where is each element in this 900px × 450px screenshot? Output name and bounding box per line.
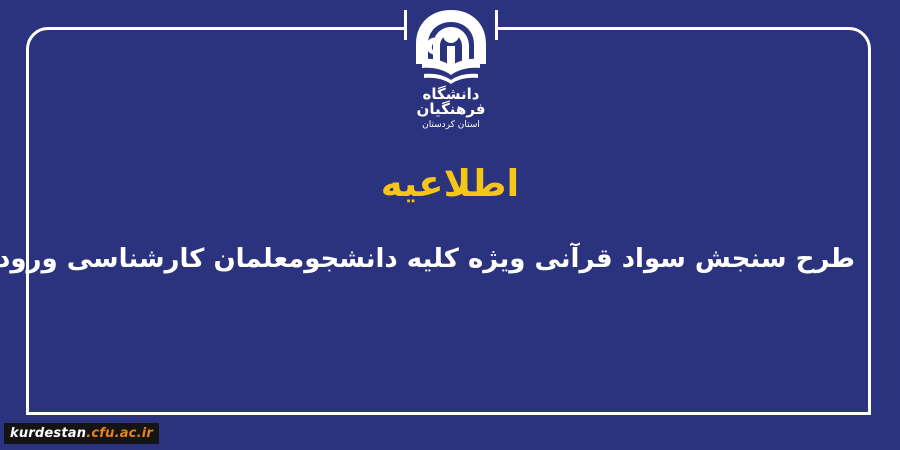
site-watermark[interactable]: kurdestan.cfu.ac.ir (4, 423, 159, 444)
announcement-poster: دانشگاه فرهنگیان استان کردستان اطلاعیه ط… (0, 0, 900, 450)
logo-university-name: دانشگاه فرهنگیان (404, 87, 498, 117)
university-logo: دانشگاه فرهنگیان استان کردستان (404, 8, 498, 130)
watermark-site-name: kurdestan (10, 426, 86, 441)
logo-province-name: استان کردستان (404, 121, 498, 130)
poster-headline: اطلاعیه (0, 163, 900, 206)
farhangian-university-emblem-icon (408, 8, 494, 86)
poster-body-text: طرح سنجش سواد قرآنی ویژه کلیه دانشجومعلم… (45, 243, 855, 277)
watermark-domain-suffix: .cfu.ac.ir (86, 426, 153, 441)
